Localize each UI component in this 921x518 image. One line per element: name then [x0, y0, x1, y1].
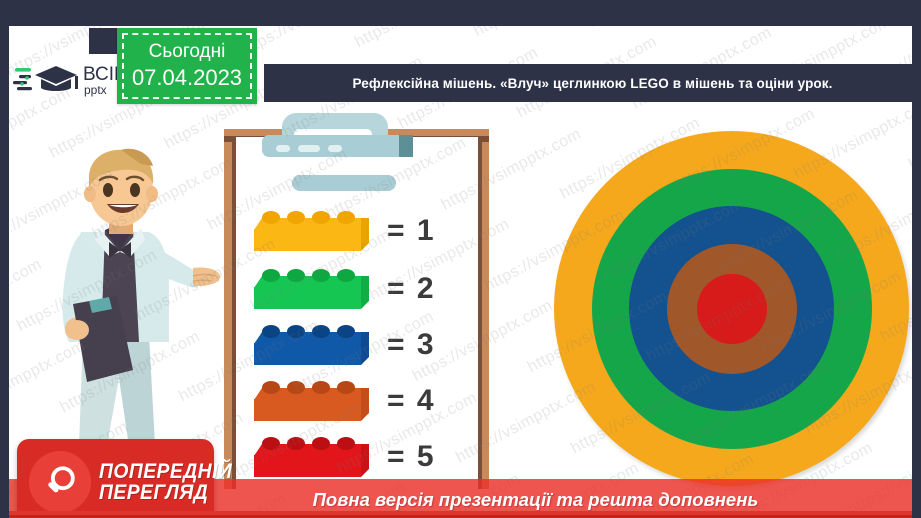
preview-badge-line-2: ПЕРЕГЛЯД: [99, 482, 232, 503]
ring-red-center: [697, 274, 767, 344]
teacher-character: [21, 146, 221, 466]
brick-stud: [287, 269, 305, 282]
brick-legend-row: = 3: [254, 325, 436, 365]
graduation-cap-icon: [13, 66, 78, 91]
brick-legend-row: = 1: [254, 211, 436, 251]
slide: = 1= 2= 3= 4= 5 https://vsimpptx.comhttp…: [0, 0, 921, 518]
brick-legend-row: = 4: [254, 381, 436, 421]
header-title: Рефлексійна мішень. «Влуч» цеглинкою LEG…: [352, 76, 832, 91]
brick-face: [254, 287, 361, 309]
reflection-target: [554, 131, 909, 486]
brick-stud: [287, 381, 305, 394]
brick-legend-row: = 5: [254, 437, 436, 477]
green-brick: [254, 269, 369, 309]
brick-face: [254, 399, 361, 421]
brick-stud: [337, 437, 355, 450]
brand-logo: ВСІМ pptx: [13, 56, 131, 102]
brick-studs: [262, 269, 369, 283]
ring-brown: [667, 244, 797, 374]
date-badge: Сьогодні 07.04.2023: [117, 28, 257, 104]
brick-stud: [262, 381, 280, 394]
brick-stud: [312, 211, 330, 224]
brick-value-label: = 4: [387, 384, 436, 418]
brick-stud: [262, 211, 280, 224]
brick-studs: [262, 325, 369, 339]
brick-stud: [287, 437, 305, 450]
brick-studs: [262, 437, 369, 451]
brick-value-label: = 3: [387, 328, 436, 362]
brick-value-label: = 5: [387, 440, 436, 474]
brick-face: [254, 455, 361, 477]
preview-badge-line-1: ПОПЕРЕДНІЙ: [99, 461, 232, 482]
brick-stud: [312, 437, 330, 450]
brick-stud: [337, 381, 355, 394]
date-badge-label: Сьогодні: [149, 40, 226, 64]
brick-stud: [262, 325, 280, 338]
magnifier-icon: [29, 451, 91, 513]
preview-badge[interactable]: ПОПЕРЕДНІЙ ПЕРЕГЛЯД: [17, 439, 214, 518]
ring-green: [592, 169, 872, 449]
brick-face: [254, 343, 361, 365]
brick-stud: [287, 211, 305, 224]
brick-face: [254, 229, 361, 251]
brick-value-label: = 2: [387, 272, 436, 306]
date-badge-date: 07.04.2023: [132, 64, 242, 93]
blue-brick: [254, 325, 369, 365]
footer-line-1: Повна версія презентації та решта доповн…: [313, 489, 759, 512]
slide-canvas: = 1= 2= 3= 4= 5 https://vsimpptx.comhttp…: [9, 26, 912, 518]
brick-stud: [312, 325, 330, 338]
yellow-brick: [254, 211, 369, 251]
brick-stud: [262, 437, 280, 450]
brick-stud: [287, 325, 305, 338]
brick-studs: [262, 381, 369, 395]
brick-stud: [312, 269, 330, 282]
brick-stud: [337, 269, 355, 282]
brick-studs: [262, 211, 369, 225]
brick-legend-row: = 2: [254, 269, 436, 309]
preview-badge-label: ПОПЕРЕДНІЙ ПЕРЕГЛЯД: [99, 461, 244, 504]
brand-sub: pptx: [84, 83, 107, 97]
header-bar: Рефлексійна мішень. «Влуч» цеглинкою LEG…: [264, 64, 912, 102]
red-brick: [254, 437, 369, 477]
orange-brick: [254, 381, 369, 421]
brick-stud: [312, 381, 330, 394]
brick-stud: [337, 325, 355, 338]
brick-stud: [337, 211, 355, 224]
ring-yellow: [554, 131, 909, 486]
ring-blue: [629, 206, 834, 411]
brick-stud: [262, 269, 280, 282]
brick-value-label: = 1: [387, 214, 436, 248]
